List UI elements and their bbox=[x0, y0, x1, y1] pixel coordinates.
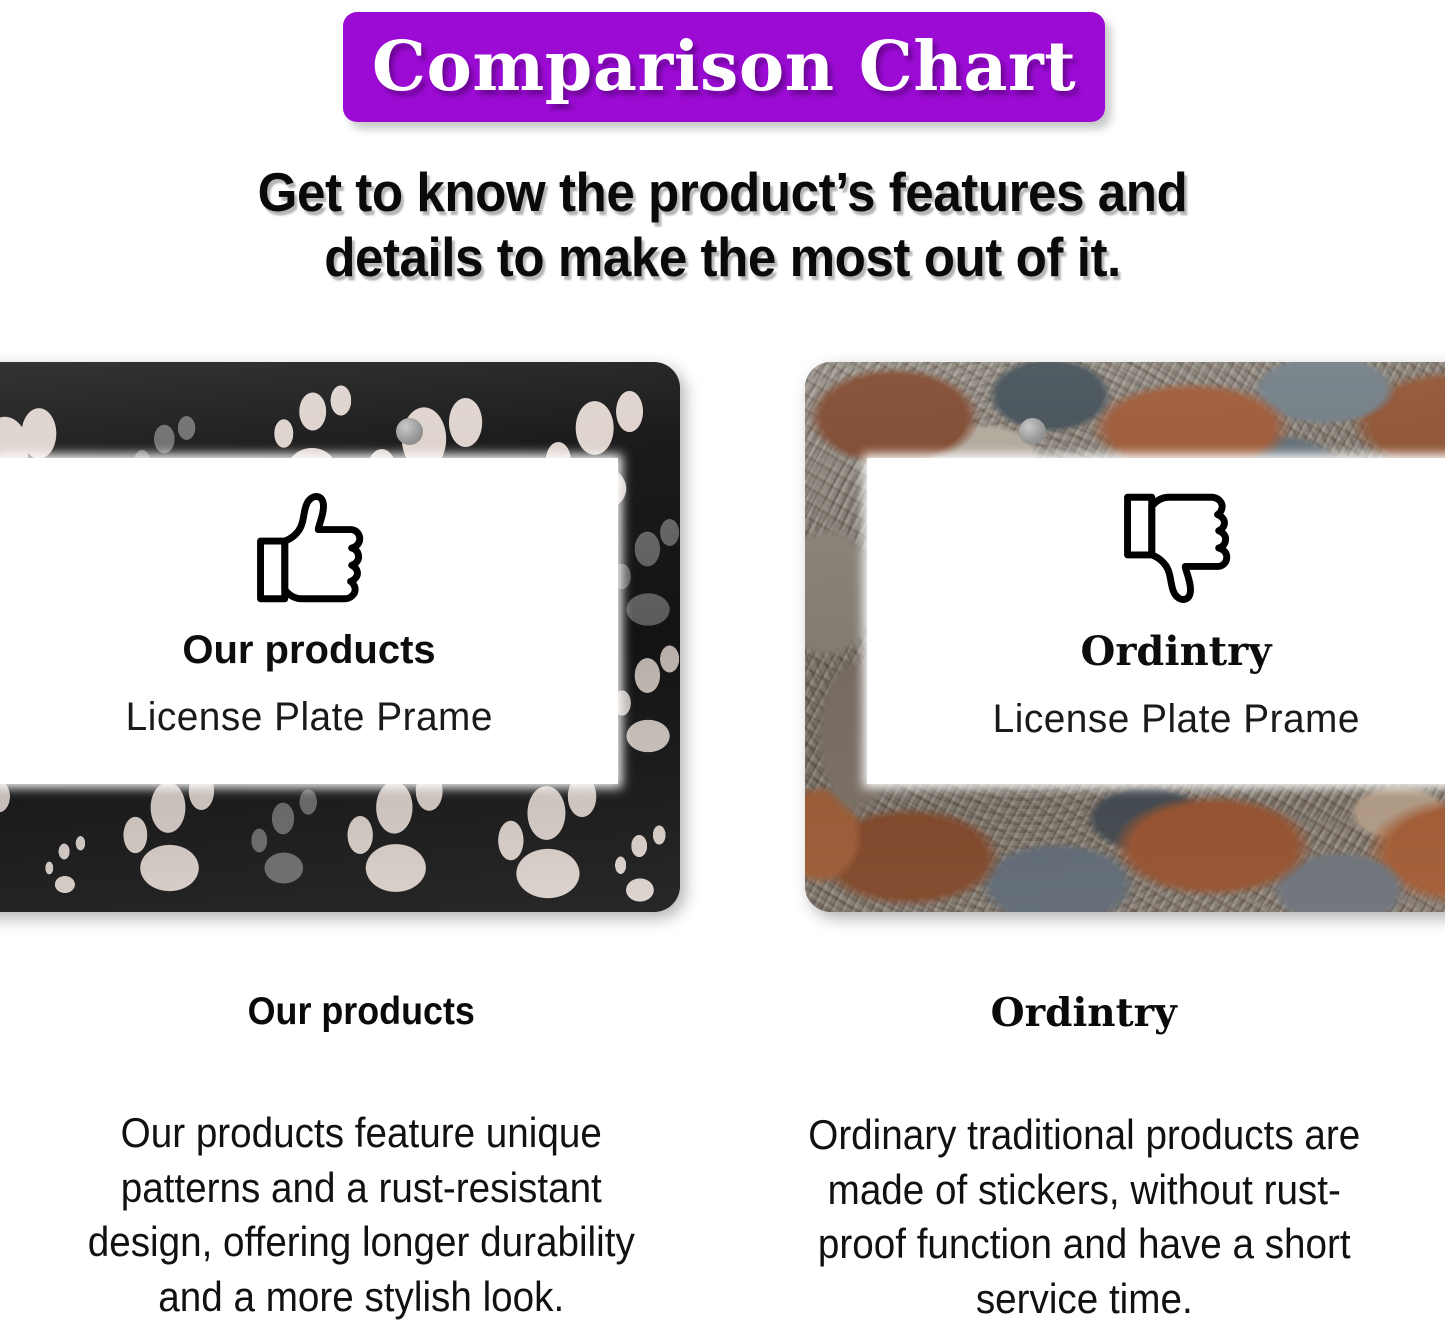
ordinary-product-plate-title: Ordintry bbox=[1081, 628, 1272, 675]
ordinary-product-column-title: Ordintry bbox=[723, 990, 1445, 1036]
ordinary-product-plate-subtitle: License Plate Prame bbox=[992, 697, 1359, 742]
our-product-column-title: Our products bbox=[29, 990, 694, 1034]
frames-row: Our products License Plate Prame Ordintr… bbox=[0, 362, 1445, 912]
thumbs-down-icon bbox=[1116, 490, 1236, 606]
ordinary-product-column: Ordintry Ordinary traditional products a… bbox=[723, 990, 1445, 1326]
our-product-plate-subtitle: License Plate Prame bbox=[125, 695, 492, 740]
subtitle: Get to know the product’s features and d… bbox=[51, 160, 1395, 290]
ordinary-product-frame: Ordintry License Plate Prame bbox=[805, 362, 1445, 912]
ordinary-product-plate-window: Ordintry License Plate Prame bbox=[867, 458, 1445, 784]
our-product-frame: Our products License Plate Prame bbox=[0, 362, 680, 912]
subtitle-line-2: details to make the most out of it. bbox=[51, 225, 1395, 290]
subtitle-line-1: Get to know the product’s features and bbox=[51, 160, 1395, 225]
our-product-plate-title: Our products bbox=[182, 628, 435, 673]
mounting-hole-icon bbox=[396, 418, 423, 445]
banner-background: Comparison Chart bbox=[343, 12, 1105, 122]
ordinary-product-column-body: Ordinary traditional products are made o… bbox=[751, 1108, 1416, 1326]
thumbs-up-icon bbox=[249, 490, 369, 606]
page-title: Comparison Chart bbox=[372, 27, 1076, 107]
our-product-plate-window: Our products License Plate Prame bbox=[0, 458, 618, 784]
our-product-column: Our products Our products feature unique… bbox=[0, 990, 723, 1326]
our-product-column-body: Our products feature unique patterns and… bbox=[29, 1106, 694, 1324]
description-columns: Our products Our products feature unique… bbox=[0, 990, 1445, 1326]
mounting-hole-icon bbox=[1019, 418, 1046, 445]
title-banner: Comparison Chart bbox=[343, 12, 1105, 122]
